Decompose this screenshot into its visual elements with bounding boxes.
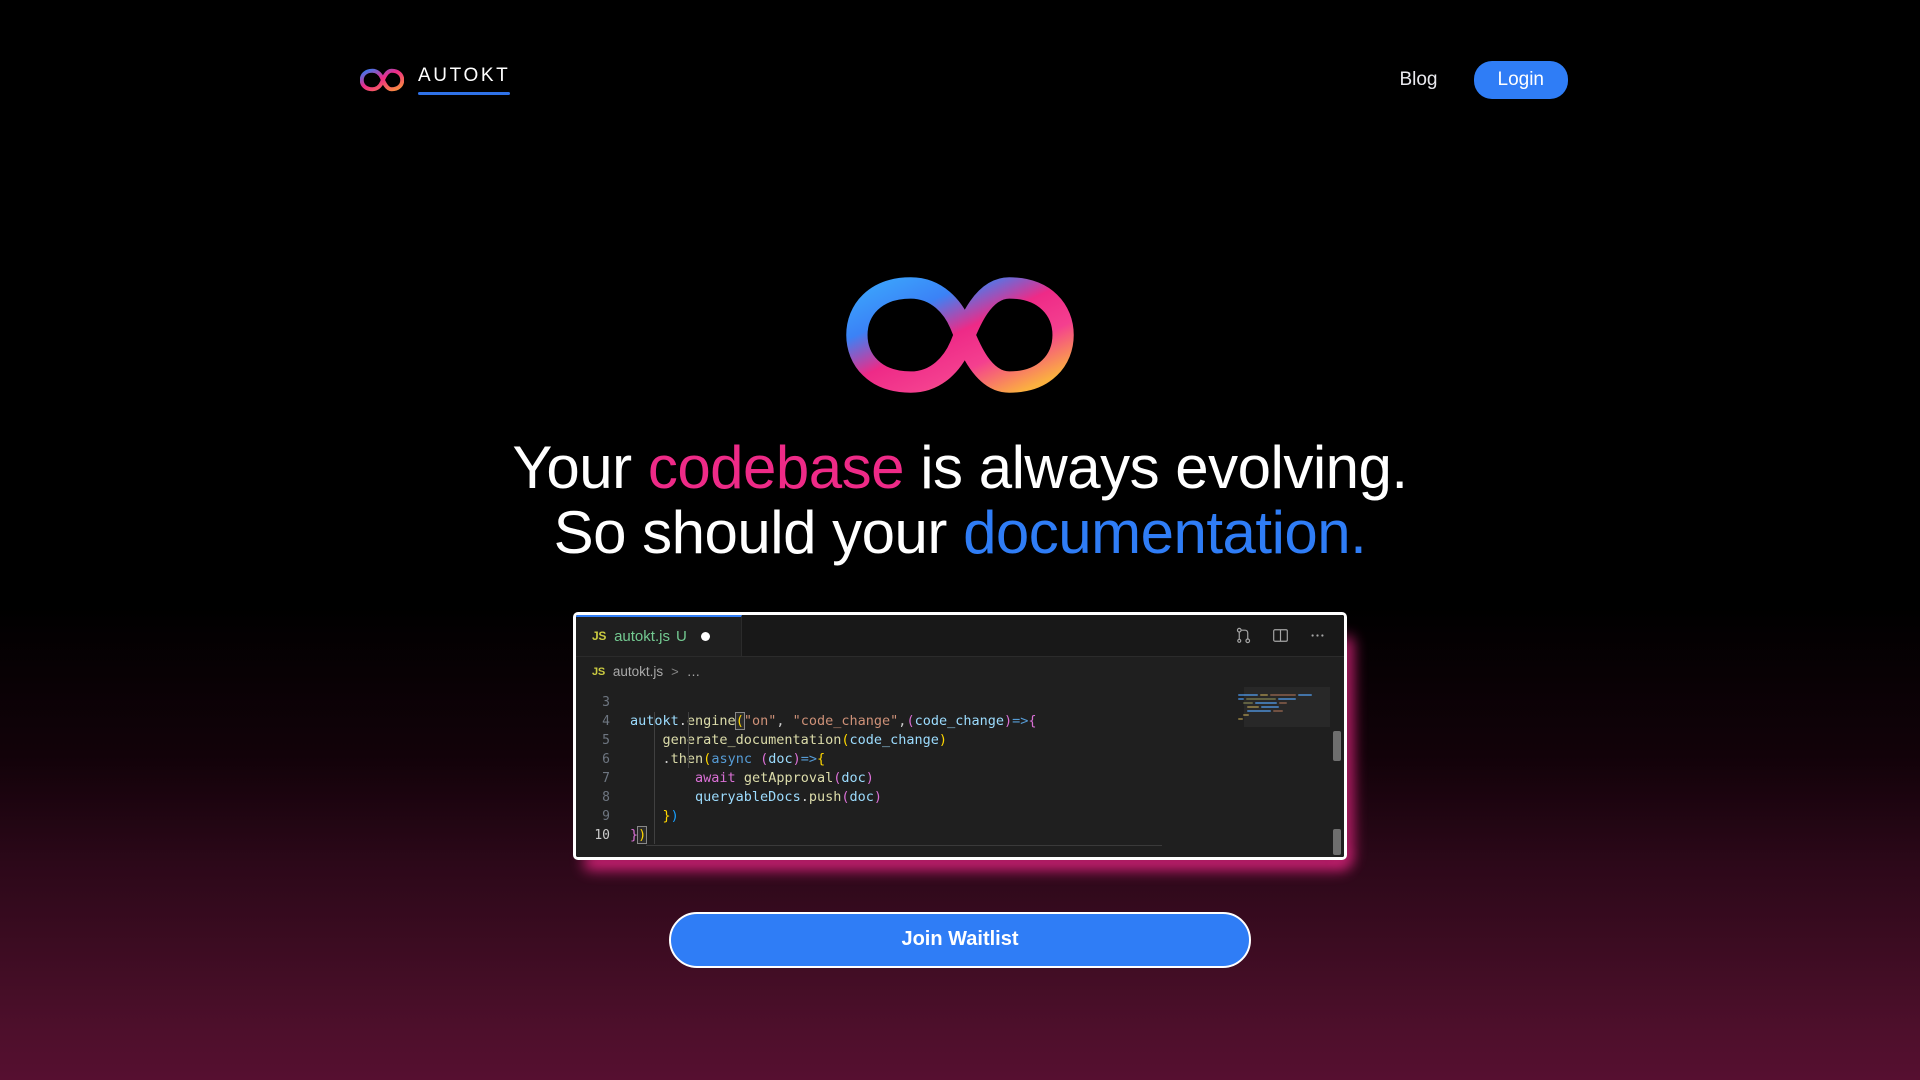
tok-string: "code_change" bbox=[793, 713, 899, 729]
tok-paren: ( bbox=[906, 713, 914, 729]
hero-section: Your codebase is always evolving. So sho… bbox=[0, 0, 1920, 1080]
code-line: 4 autokt.engine("on", "code_change",(cod… bbox=[576, 712, 1344, 731]
tok-string: "on" bbox=[744, 713, 777, 729]
tok-arrow: => bbox=[1012, 713, 1028, 729]
minimap-slider[interactable] bbox=[1244, 687, 1330, 727]
code-line: 7 await getApproval(doc) bbox=[576, 769, 1344, 788]
tok-dot: . bbox=[663, 751, 671, 767]
tok-paren-match: ( bbox=[736, 713, 744, 729]
line-number: 5 bbox=[576, 731, 630, 750]
line-number: 10 bbox=[576, 826, 630, 845]
breadcrumb-file[interactable]: autokt.js bbox=[613, 664, 663, 679]
tok-brace: { bbox=[817, 751, 825, 767]
tok-comma: , bbox=[776, 713, 792, 729]
vertical-scrollbar[interactable] bbox=[1330, 687, 1344, 857]
tok-paren: ) bbox=[866, 770, 874, 786]
unsaved-dot-icon[interactable] bbox=[701, 632, 710, 641]
tok-function: getApproval bbox=[744, 770, 833, 786]
tok-paren-match: ) bbox=[638, 827, 646, 843]
tok-paren: ) bbox=[793, 751, 801, 767]
split-editor-icon[interactable] bbox=[1272, 627, 1289, 644]
indent-guide bbox=[654, 712, 655, 844]
current-line-rule bbox=[646, 845, 1162, 846]
tok-method: then bbox=[671, 751, 704, 767]
line-number: 7 bbox=[576, 769, 630, 788]
tok-brace: } bbox=[663, 808, 671, 824]
code-line: 6 .then(async (doc)=>{ bbox=[576, 750, 1344, 769]
code-line: 3 bbox=[576, 693, 1344, 712]
headline-text-1a: Your bbox=[512, 434, 647, 501]
tok-arg: code_change bbox=[849, 732, 938, 748]
line-number: 6 bbox=[576, 750, 630, 769]
line-content: await getApproval(doc) bbox=[630, 769, 874, 788]
line-content: generate_documentation(code_change) bbox=[630, 731, 947, 750]
js-file-icon: JS bbox=[592, 666, 605, 678]
editor-breadcrumb[interactable]: JS autokt.js > … bbox=[576, 657, 1344, 687]
code-editor: JS autokt.js U bbox=[573, 612, 1347, 860]
headline-highlight-documentation: documentation. bbox=[963, 499, 1366, 566]
code-area[interactable]: 3 4 autokt.engine("on", "code_change",(c… bbox=[576, 687, 1344, 857]
scrollbar-thumb[interactable] bbox=[1333, 829, 1341, 855]
tok-brace: { bbox=[1028, 713, 1036, 729]
tok-arg: doc bbox=[850, 789, 874, 805]
code-line: 5 generate_documentation(code_change) bbox=[576, 731, 1344, 750]
code-editor-card: JS autokt.js U bbox=[573, 612, 1347, 860]
headline-text-1b: is always evolving. bbox=[904, 434, 1408, 501]
landing-page: AUTOKT Blog Login Your codeba bbox=[0, 0, 1920, 1080]
more-actions-icon[interactable] bbox=[1309, 627, 1326, 644]
join-waitlist-button[interactable]: Join Waitlist bbox=[669, 912, 1251, 968]
headline-text-2a: So should your bbox=[554, 499, 963, 566]
js-file-icon: JS bbox=[592, 629, 606, 643]
tok-keyword: async bbox=[711, 751, 752, 767]
code-line: 10 }) bbox=[576, 826, 1344, 845]
line-content: queryableDocs.push(doc) bbox=[630, 788, 882, 807]
tok-paren: ( bbox=[841, 789, 849, 805]
tok-paren: ) bbox=[939, 732, 947, 748]
code-line: 9 }) bbox=[576, 807, 1344, 826]
tok-keyword: await bbox=[695, 770, 736, 786]
line-number: 8 bbox=[576, 788, 630, 807]
tok-dot: . bbox=[679, 713, 687, 729]
tok-paren: ) bbox=[1004, 713, 1012, 729]
code-line: 8 queryableDocs.push(doc) bbox=[576, 788, 1344, 807]
editor-tab-autokt-js[interactable]: JS autokt.js U bbox=[576, 615, 742, 656]
line-content: autokt.engine("on", "code_change",(code_… bbox=[630, 712, 1037, 731]
tok-paren: ( bbox=[760, 751, 768, 767]
line-number: 4 bbox=[576, 712, 630, 731]
source-control-icon[interactable] bbox=[1235, 627, 1252, 644]
tok-paren: ) bbox=[874, 789, 882, 805]
tabstrip-empty-space bbox=[742, 615, 1217, 656]
tok-brace: } bbox=[630, 827, 638, 843]
line-number: 9 bbox=[576, 807, 630, 826]
tok-paren: ) bbox=[671, 808, 679, 824]
tok-method: engine bbox=[687, 713, 736, 729]
tab-git-status: U bbox=[676, 628, 687, 645]
infinity-icon bbox=[830, 270, 1090, 400]
hero-headline: Your codebase is always evolving. So sho… bbox=[512, 436, 1407, 566]
tok-param: doc bbox=[768, 751, 792, 767]
tok-param: code_change bbox=[915, 713, 1004, 729]
tok-function: generate_documentation bbox=[663, 732, 842, 748]
tok-arg: doc bbox=[841, 770, 865, 786]
tok-object: queryableDocs bbox=[695, 789, 801, 805]
tok-dot: . bbox=[801, 789, 809, 805]
tok-method: push bbox=[809, 789, 842, 805]
tab-filename: autokt.js bbox=[614, 628, 670, 645]
headline-highlight-codebase: codebase bbox=[648, 434, 904, 501]
scrollbar-thumb[interactable] bbox=[1333, 731, 1341, 761]
headline-line-2: So should your documentation. bbox=[512, 501, 1407, 566]
editor-toolbar bbox=[1217, 615, 1344, 656]
tok-arrow: => bbox=[801, 751, 817, 767]
line-number: 3 bbox=[576, 693, 630, 712]
breadcrumb-tail[interactable]: … bbox=[687, 664, 701, 679]
headline-line-1: Your codebase is always evolving. bbox=[512, 436, 1407, 501]
editor-tabstrip: JS autokt.js U bbox=[576, 615, 1344, 657]
line-content: }) bbox=[630, 826, 646, 845]
line-content: .then(async (doc)=>{ bbox=[630, 750, 825, 769]
chevron-right-icon: > bbox=[671, 664, 679, 679]
indent-guide bbox=[688, 712, 689, 768]
